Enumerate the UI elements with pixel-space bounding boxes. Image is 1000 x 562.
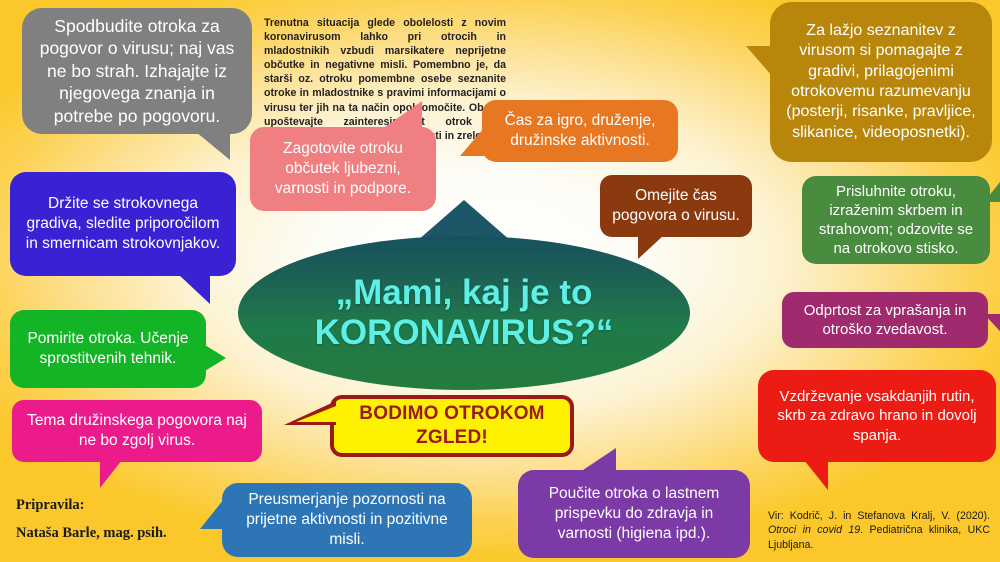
prepared-by-label: Pripravila: bbox=[16, 492, 226, 520]
speech-tail-icon bbox=[178, 274, 210, 304]
callout-adapted-materials: Za lažjo seznanitev z virusom si pomagaj… bbox=[770, 2, 992, 162]
callout-play-time: Čas za igro, druženje, družinske aktivno… bbox=[482, 100, 678, 162]
poster-canvas: Spodbudite otroka za pogovor o virusu; n… bbox=[0, 0, 1000, 562]
callout-listen-text: Prisluhnite otroku, izraženim skrbem in … bbox=[814, 182, 978, 259]
speech-tail-icon bbox=[296, 406, 336, 422]
callout-topic-text: Tema družinskega pogovora naj ne bo zgol… bbox=[24, 411, 250, 451]
callout-listen-to-child: Prisluhnite otroku, izraženim skrbem in … bbox=[802, 176, 990, 264]
speech-tail-icon bbox=[580, 448, 616, 472]
author-credit: Pripravila: Nataša Barle, mag. psih. bbox=[16, 492, 226, 547]
callout-redirect-attention: Preusmerjanje pozornosti na prijetne akt… bbox=[222, 483, 472, 557]
speech-tail-icon bbox=[196, 132, 230, 160]
callout-redirect-text: Preusmerjanje pozornosti na prijetne akt… bbox=[234, 490, 460, 549]
page-title: „Mami, kaj je to KORONAVIRUS?“ bbox=[315, 273, 614, 353]
source-prefix: Vir: Kodrič, J. in Stefanova Kralj, V. (… bbox=[768, 510, 990, 522]
title-ellipse: „Mami, kaj je to KORONAVIRUS?“ bbox=[238, 236, 690, 390]
callout-love-security: Zagotovite otroku občutek ljubezni, varn… bbox=[250, 127, 436, 211]
callout-daily-routines: Vzdrževanje vsakdanjih rutin, skrb za zd… bbox=[758, 370, 996, 462]
source-citation: Vir: Kodrič, J. in Stefanova Kralj, V. (… bbox=[768, 509, 990, 552]
speech-tail-icon bbox=[200, 342, 226, 374]
callout-routine-text: Vzdrževanje vsakdanjih rutin, skrb za zd… bbox=[770, 387, 984, 445]
callout-expert-text: Držite se strokovnega gradiva, sledite p… bbox=[22, 194, 224, 253]
callout-encourage-text: Spodbudite otroka za pogovor o virusu; n… bbox=[34, 15, 240, 127]
intro-paragraph: Trenutna situacija glede obolelosti z no… bbox=[264, 2, 506, 110]
callout-conversation-topic: Tema družinskega pogovora naj ne bo zgol… bbox=[12, 400, 262, 462]
callout-love-text: Zagotovite otroku občutek ljubezni, varn… bbox=[262, 139, 424, 198]
callout-calm-child: Pomirite otroka. Učenje sprostitvenih te… bbox=[10, 310, 206, 388]
speech-tail-icon bbox=[746, 46, 772, 76]
speech-tail-icon bbox=[984, 314, 1000, 342]
speech-tail-icon bbox=[100, 460, 122, 488]
callout-teach-hygiene: Poučite otroka o lastnem prispevku do zd… bbox=[518, 470, 750, 558]
author-name: Nataša Barle, mag. psih. bbox=[16, 520, 226, 548]
source-title: Otroci in covid 19 bbox=[768, 524, 860, 536]
callout-expert-sources: Držite se strokovnega gradiva, sledite p… bbox=[10, 172, 236, 276]
callout-calm-text: Pomirite otroka. Učenje sprostitvenih te… bbox=[22, 329, 194, 369]
main-title-block: „Mami, kaj je to KORONAVIRUS?“ bbox=[238, 200, 690, 390]
callout-play-text: Čas za igro, druženje, družinske aktivno… bbox=[494, 111, 666, 151]
callout-materials-text: Za lažjo seznanitev z virusom si pomagaj… bbox=[782, 21, 980, 144]
callout-example-text: BODIMO OTROKOM ZGLED! bbox=[346, 402, 558, 451]
speech-tail-icon bbox=[984, 172, 1000, 202]
speech-tail-icon bbox=[460, 128, 484, 156]
callout-openness-questions: Odprtost za vprašanja in otroško zvedavo… bbox=[782, 292, 988, 348]
callout-be-an-example: BODIMO OTROKOM ZGLED! bbox=[330, 395, 574, 457]
callout-openness-text: Odprtost za vprašanja in otroško zvedavo… bbox=[794, 301, 976, 339]
speech-tail-icon bbox=[382, 101, 422, 129]
page-title-line-2: KORONAVIRUS?“ bbox=[315, 313, 614, 352]
callout-encourage-conversation: Spodbudite otroka za pogovor o virusu; n… bbox=[22, 8, 252, 134]
callout-teach-text: Poučite otroka o lastnem prispevku do zd… bbox=[530, 484, 738, 543]
speech-tail-icon bbox=[804, 460, 828, 490]
page-title-line-1: „Mami, kaj je to bbox=[336, 273, 593, 312]
